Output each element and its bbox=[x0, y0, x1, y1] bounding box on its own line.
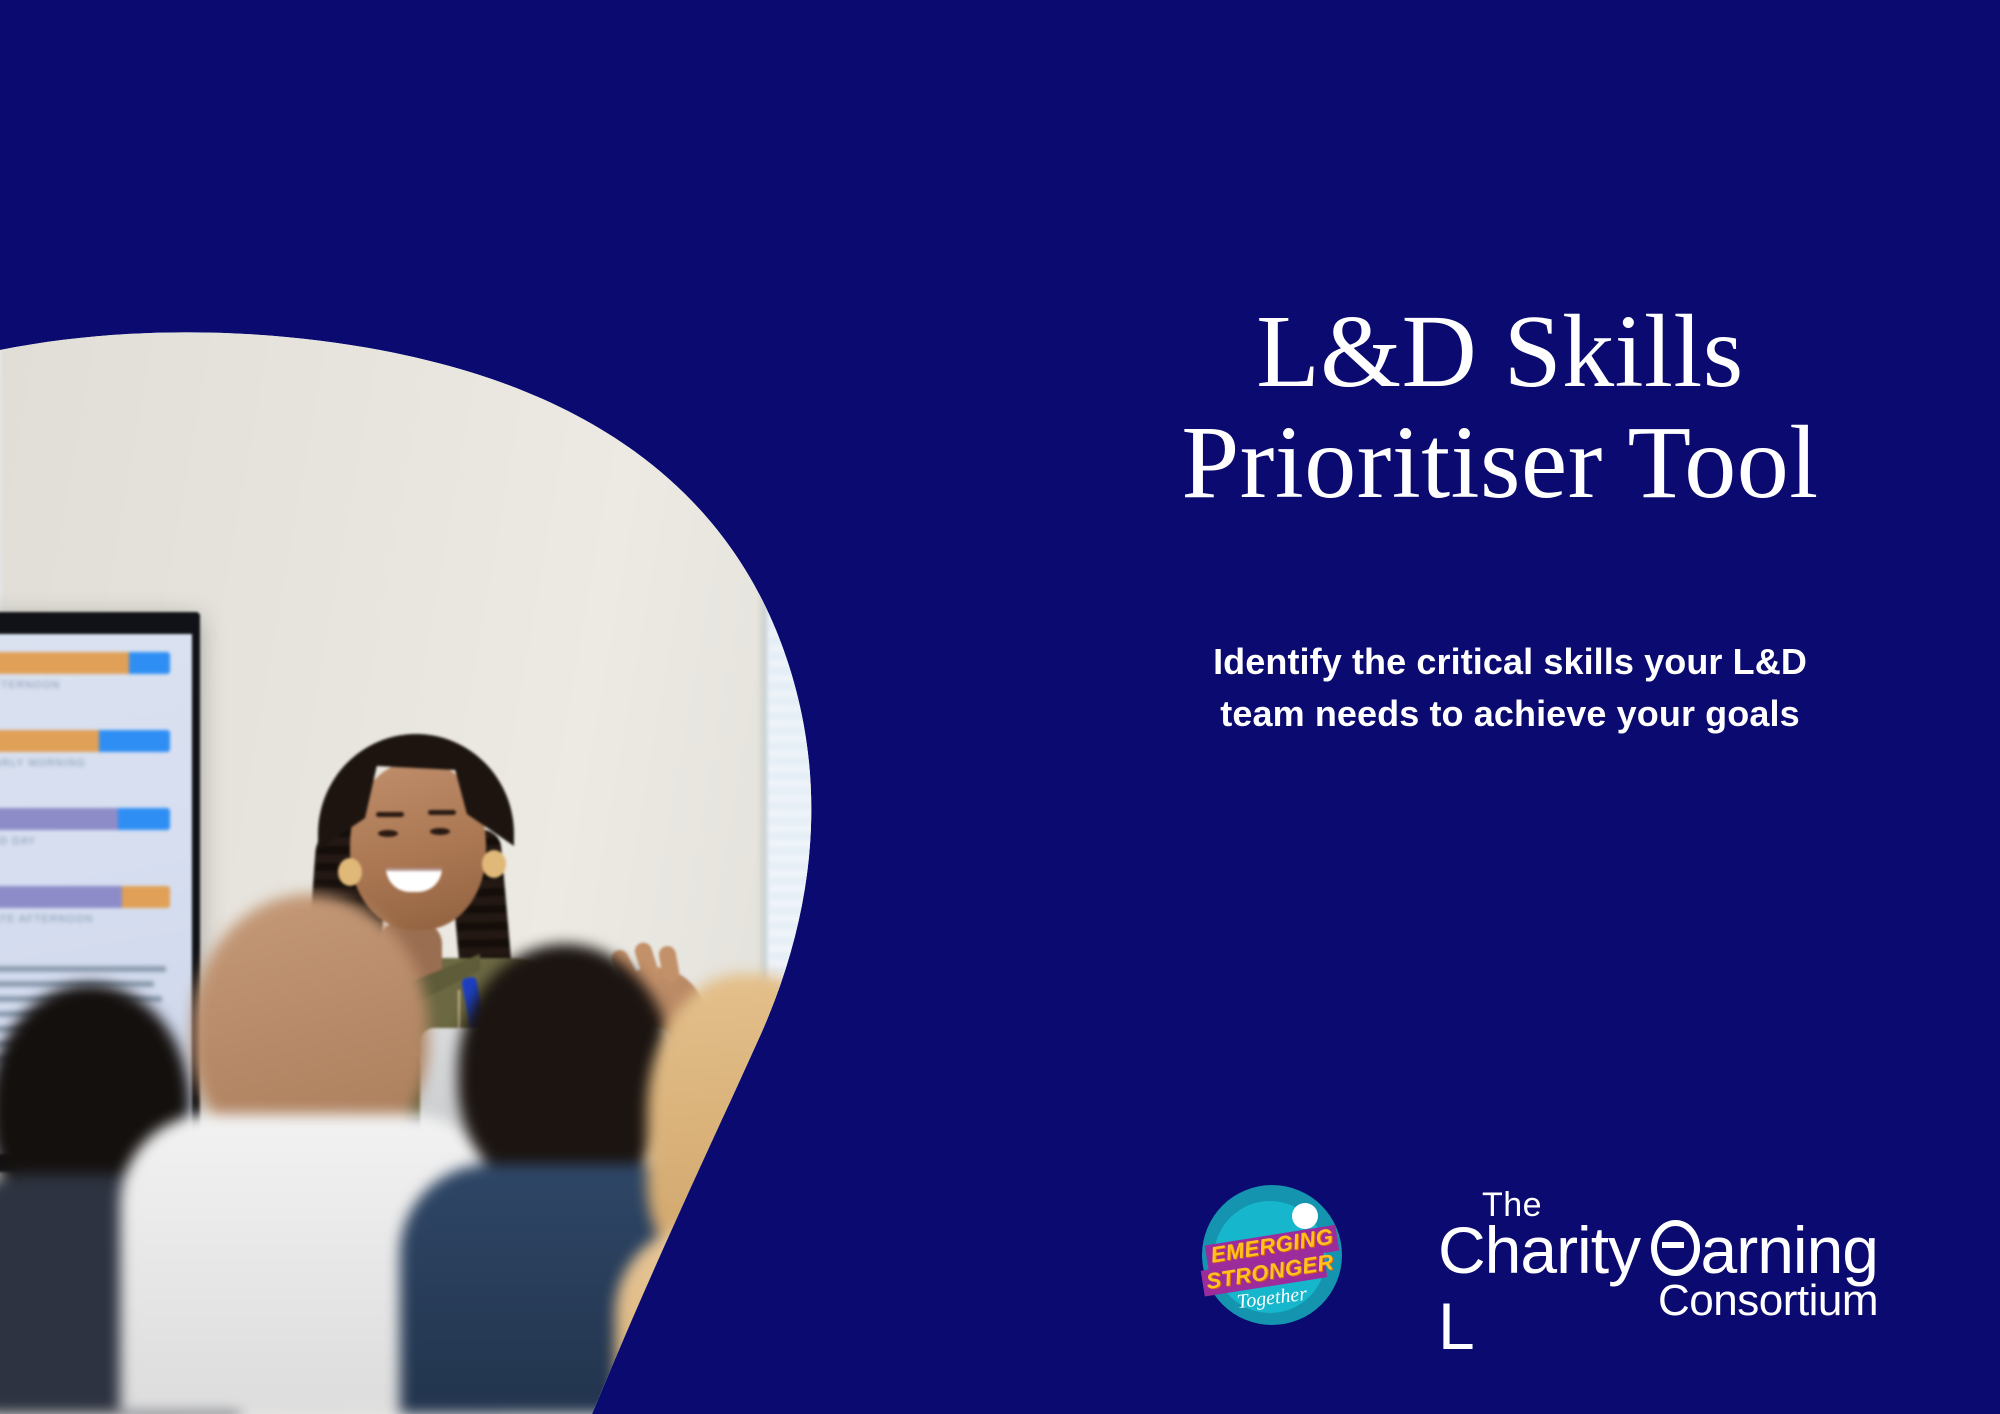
bar-segment-primary bbox=[0, 808, 118, 830]
chart-row: 8% EARLY MORNING bbox=[0, 726, 186, 804]
emerging-stronger-logo: EMERGING STRONGER Together bbox=[1202, 1185, 1342, 1325]
chart-category-label: LATE AFTERNOON bbox=[0, 914, 93, 925]
slide-root: 4% AFTERNOON 8% bbox=[0, 0, 2000, 1414]
bar-segment-primary bbox=[0, 886, 122, 908]
conference-photo: 4% AFTERNOON 8% bbox=[0, 0, 1060, 1414]
chart-bar bbox=[0, 730, 170, 752]
chart-row: 4% AFTERNOON bbox=[0, 648, 186, 726]
bar-segment-secondary bbox=[118, 808, 170, 830]
page-subtitle: Identify the critical skills your L&D te… bbox=[1100, 636, 1920, 740]
eye-right bbox=[430, 828, 450, 835]
logo-at-style-e-icon bbox=[1651, 1220, 1700, 1276]
bar-segment-secondary bbox=[99, 730, 170, 752]
chart-row: 3% MID DAY bbox=[0, 804, 186, 882]
chart-bar bbox=[0, 652, 170, 674]
audience-head bbox=[647, 974, 853, 1274]
bar-segment-primary bbox=[0, 652, 129, 674]
logo-wordmark-part1: Charity L bbox=[1438, 1212, 1650, 1364]
charity-learning-consortium-logo: The Charity L arning Consortium bbox=[1438, 1180, 1878, 1330]
logo-consortium-text: Consortium bbox=[1658, 1276, 1878, 1326]
eyebrow-right bbox=[428, 810, 456, 815]
earring-right bbox=[482, 850, 506, 878]
eyebrow-left bbox=[376, 812, 404, 817]
chart-category-label: MID DAY bbox=[0, 836, 36, 847]
window-light bbox=[769, 0, 1060, 1414]
page-title: L&D Skills Prioritiser Tool bbox=[1060, 296, 1940, 519]
content-column: L&D Skills Prioritiser Tool Identify the… bbox=[1060, 0, 2000, 1414]
audience-member bbox=[600, 974, 900, 1414]
wall-edge bbox=[760, 0, 769, 1414]
photo-panel: 4% AFTERNOON 8% bbox=[0, 0, 1060, 1414]
chart-category-label: EARLY MORNING bbox=[0, 758, 86, 769]
bar-segment-secondary bbox=[129, 652, 170, 674]
audience-shoulders bbox=[615, 1224, 885, 1414]
earring-left bbox=[338, 858, 362, 886]
eye-left bbox=[378, 830, 398, 837]
chart-bar bbox=[0, 808, 170, 830]
chart-category-label: AFTERNOON bbox=[0, 680, 60, 691]
bar-segment-primary bbox=[0, 730, 99, 752]
logo-row: EMERGING STRONGER Together The Charity L… bbox=[1120, 1180, 1960, 1330]
